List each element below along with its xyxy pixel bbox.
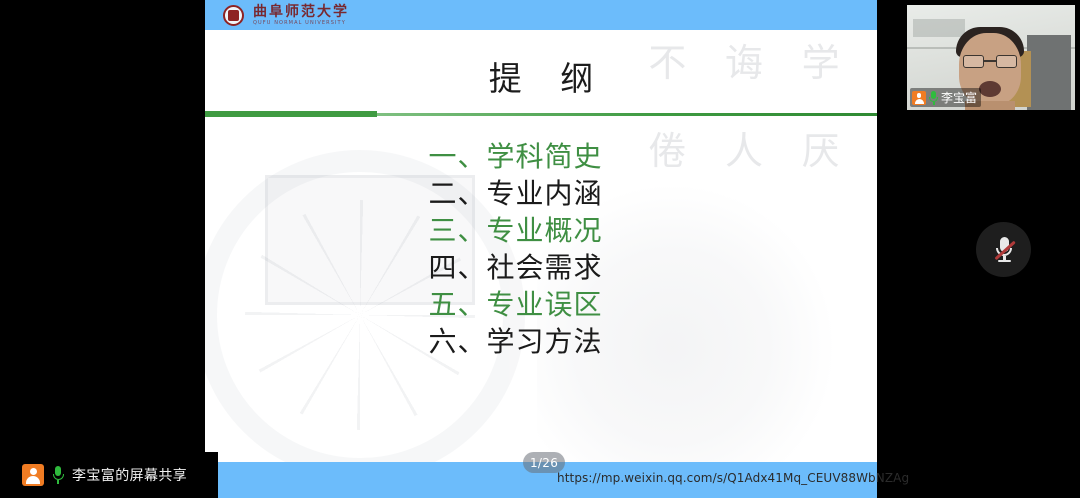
cabinet-shape — [1027, 35, 1071, 110]
microphone-icon — [929, 91, 938, 105]
microphone-icon — [52, 466, 64, 484]
mute-toggle-button[interactable] — [976, 222, 1031, 277]
source-url: https://mp.weixin.qq.com/s/Q1Adx41Mq_CEU… — [557, 471, 909, 485]
shelf-shape — [913, 19, 965, 37]
screen-share-view: 不 诲 学 倦 人 厌 曲阜师范大学 QUFU NORMAL UNIVERSIT… — [0, 0, 1080, 498]
participant-name-badge: 李宝富 — [910, 88, 981, 107]
slide-header-bar: 曲阜师范大学 QUFU NORMAL UNIVERSITY — [205, 0, 877, 30]
screen-share-banner: 李宝富的屏幕共享 — [0, 452, 218, 498]
divider-thin-segment — [377, 113, 877, 116]
slide-footer-bar: 1/26 https://mp.weixin.qq.com/s/Q1Adx41M… — [205, 462, 877, 498]
person-icon — [22, 464, 44, 486]
shared-slide[interactable]: 不 诲 学 倦 人 厌 曲阜师范大学 QUFU NORMAL UNIVERSIT… — [205, 0, 877, 462]
university-name-cn: 曲阜师范大学 — [253, 5, 349, 19]
participant-name: 李宝富 — [941, 89, 977, 106]
outline-item: 一、学科简史 — [429, 138, 654, 175]
outline-item: 三、专业概况 — [429, 212, 654, 249]
person-icon — [912, 91, 926, 105]
page-indicator: 1/26 — [523, 452, 565, 473]
outline-item: 五、专业误区 — [429, 286, 654, 323]
mouth-shape — [979, 81, 1001, 97]
slide-title: 提 纲 — [205, 52, 877, 100]
university-seal-icon — [223, 5, 244, 26]
participant-video-tile[interactable]: 李宝富 — [907, 5, 1075, 110]
share-banner-label: 李宝富的屏幕共享 — [72, 465, 187, 485]
university-name-block: 曲阜师范大学 QUFU NORMAL UNIVERSITY — [253, 5, 349, 26]
microphone-muted-icon — [995, 237, 1013, 263]
outline-item: 六、学习方法 — [429, 323, 654, 360]
outline-item: 二、专业内涵 — [429, 175, 654, 212]
glasses-icon — [963, 55, 1017, 68]
university-name-en: QUFU NORMAL UNIVERSITY — [253, 21, 349, 26]
outline-list: 一、学科简史 二、专业内涵 三、专业概况 四、社会需求 五、专业误区 六、学习方… — [205, 138, 877, 360]
outline-item: 四、社会需求 — [429, 249, 654, 286]
divider-thick-segment — [205, 111, 377, 117]
slide-divider — [205, 110, 877, 118]
